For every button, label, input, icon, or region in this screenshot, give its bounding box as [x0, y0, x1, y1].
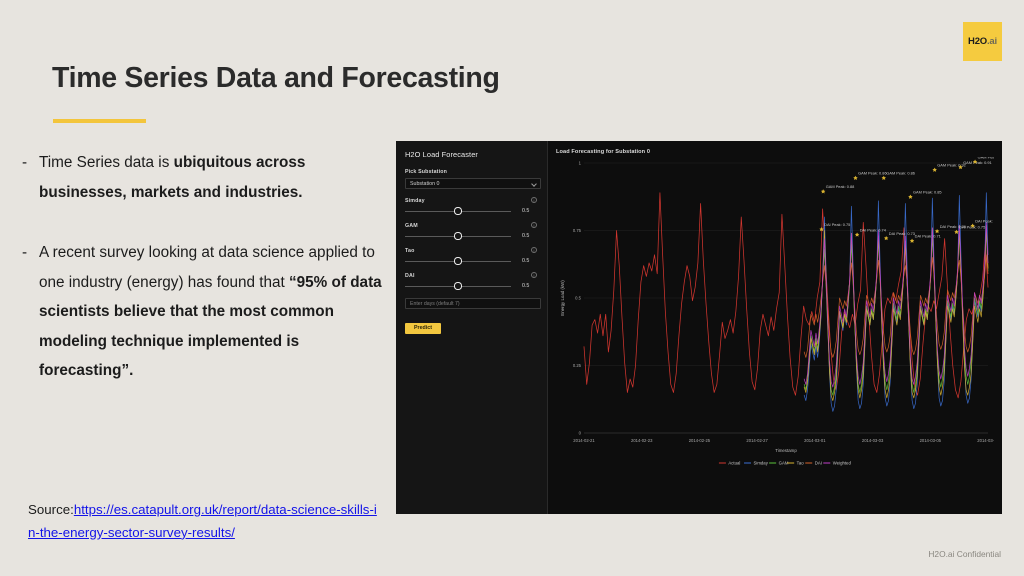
- source-link[interactable]: https://es.catapult.org.uk/report/data-s…: [28, 502, 377, 540]
- peak-annotation-label: DAI Peak: 0.77: [975, 218, 994, 223]
- page-title: Time Series Data and Forecasting: [52, 62, 500, 95]
- y-tick-label: 1: [579, 161, 582, 166]
- peak-annotation-label: GAM Peak: 0.85: [913, 190, 942, 195]
- chart-title: Load Forecasting for Substation 0: [556, 149, 994, 155]
- bullet-marker: -: [22, 148, 39, 207]
- slider-simday[interactable]: Simdayi0.5: [405, 198, 539, 215]
- slider-handle[interactable]: [454, 257, 461, 264]
- x-tick-label: 2014-03-05: [920, 438, 942, 443]
- x-tick-label: 2014-03-01: [804, 438, 826, 443]
- x-tick-label: 2014-03-03: [862, 438, 884, 443]
- slide-canvas: H2O.ai Time Series Data and Forecasting …: [0, 0, 1024, 576]
- chart-area: Load Forecasting for Substation 0 00.250…: [548, 141, 1002, 514]
- days-input[interactable]: Enter days (default 7): [405, 298, 541, 309]
- slider-label: Simday: [405, 198, 539, 204]
- bullet-text: A recent survey looking at data science …: [39, 238, 382, 386]
- x-tick-label: 2014-02-25: [689, 438, 711, 443]
- slider-track[interactable]: [405, 286, 511, 287]
- legend-label-weighted[interactable]: Weighted: [833, 461, 852, 466]
- days-input-placeholder: Enter days (default 7): [410, 301, 460, 307]
- x-tick-label: 2014-02-21: [573, 438, 595, 443]
- peak-annotation-label: DAI Peak: 0.73: [889, 231, 915, 236]
- logo-text-suffix: .ai: [987, 36, 997, 47]
- slider-gam[interactable]: GAMi0.5: [405, 223, 539, 240]
- substation-select[interactable]: Substation 0: [405, 178, 541, 189]
- legend-label-actual[interactable]: Actual: [728, 461, 740, 466]
- info-icon[interactable]: i: [531, 222, 537, 228]
- peak-annotation-label: GAM Peak: 0.91: [963, 160, 992, 165]
- peak-annotation-label: DAI Peak: 0.74: [860, 227, 887, 232]
- y-tick-label: 0: [579, 431, 582, 436]
- list-item: - A recent survey looking at data scienc…: [22, 238, 382, 386]
- slider-track[interactable]: [405, 211, 511, 212]
- peak-annotation-label: DAI Peak: 0.71: [915, 234, 941, 239]
- slider-value: 0.5: [522, 233, 529, 239]
- slide-footer: H2O.ai Confidential: [928, 549, 1001, 559]
- info-icon[interactable]: i: [531, 272, 537, 278]
- x-tick-label: 2014-02-23: [631, 438, 653, 443]
- y-tick-label: 0.75: [573, 228, 582, 233]
- x-axis-title: Timestamp: [775, 448, 797, 453]
- forecast-line-chart[interactable]: 00.250.50.7512014-02-212014-02-232014-02…: [554, 157, 994, 479]
- slider-handle[interactable]: [454, 207, 461, 214]
- peak-annotation-label: GAM Peak: 0.95: [978, 157, 994, 159]
- peak-annotation-label: GAM Peak: 0.86: [886, 171, 915, 176]
- source-citation: Source:https://es.catapult.org.uk/report…: [28, 499, 380, 545]
- control-panel: H2O Load Forecaster Pick Substation Subs…: [396, 141, 548, 514]
- y-tick-label: 0.25: [573, 363, 582, 368]
- title-accent-rule: [53, 119, 146, 123]
- legend-label-tao[interactable]: Tao: [797, 461, 805, 466]
- slider-value: 0.5: [522, 283, 529, 289]
- bullet-marker: -: [22, 238, 39, 386]
- legend-label-dai[interactable]: DAI: [815, 461, 822, 466]
- slider-track[interactable]: [405, 236, 511, 237]
- app-title: H2O Load Forecaster: [405, 150, 539, 159]
- slider-label: GAM: [405, 223, 539, 229]
- info-icon[interactable]: i: [531, 247, 537, 253]
- legend-label-simday[interactable]: Simday: [754, 461, 769, 466]
- slider-dai[interactable]: DAIi0.5: [405, 273, 539, 290]
- peak-marker: [935, 229, 939, 233]
- bullet-list: - Time Series data is ubiquitous across …: [22, 148, 382, 386]
- slider-value: 0.5: [522, 208, 529, 214]
- peak-marker: [853, 176, 857, 180]
- slider-handle[interactable]: [454, 282, 461, 289]
- bullet-text: Time Series data is ubiquitous across bu…: [39, 148, 382, 207]
- x-tick-label: 2014-02-27: [746, 438, 768, 443]
- peak-marker: [908, 195, 912, 199]
- slider-handle[interactable]: [454, 232, 461, 239]
- y-tick-label: 0.5: [575, 296, 581, 301]
- peak-marker: [882, 176, 886, 180]
- peak-annotation-label: GAM Peak: 0.86: [858, 171, 887, 176]
- series-line-actual: [584, 193, 988, 398]
- predict-button[interactable]: Predict: [405, 323, 441, 334]
- peak-marker: [821, 189, 825, 193]
- series-line-dai: [804, 255, 988, 358]
- x-tick-label: 2014-03-06: [977, 438, 994, 443]
- list-item: - Time Series data is ubiquitous across …: [22, 148, 382, 207]
- info-icon[interactable]: i: [531, 197, 537, 203]
- slider-list: Simdayi0.5GAMi0.5Taoi0.5DAIi0.5: [405, 198, 539, 290]
- substation-label: Pick Substation: [405, 169, 539, 175]
- logo-text-main: H2O: [968, 36, 987, 47]
- h2o-ai-logo: H2O.ai: [963, 22, 1002, 61]
- slider-tao[interactable]: Taoi0.5: [405, 248, 539, 265]
- slider-label: Tao: [405, 248, 539, 254]
- peak-annotation-label: GAM Peak: 0.88: [826, 184, 855, 189]
- slider-track[interactable]: [405, 261, 511, 262]
- peak-marker: [932, 168, 936, 172]
- peak-marker: [855, 232, 859, 236]
- bullet-plain: Time Series data is: [39, 154, 174, 171]
- source-label: Source:: [28, 502, 74, 517]
- slider-label: DAI: [405, 273, 539, 279]
- substation-selected-value: Substation 0: [410, 181, 439, 187]
- peak-annotation-label: DAI Peak: 0.75: [824, 222, 850, 227]
- chevron-down-icon: [531, 181, 537, 187]
- peak-marker: [884, 236, 888, 240]
- slider-value: 0.5: [522, 258, 529, 264]
- load-forecaster-app: H2O Load Forecaster Pick Substation Subs…: [396, 141, 1002, 514]
- peak-marker: [910, 239, 914, 243]
- y-axis-title: Energy Load (kW): [560, 280, 565, 316]
